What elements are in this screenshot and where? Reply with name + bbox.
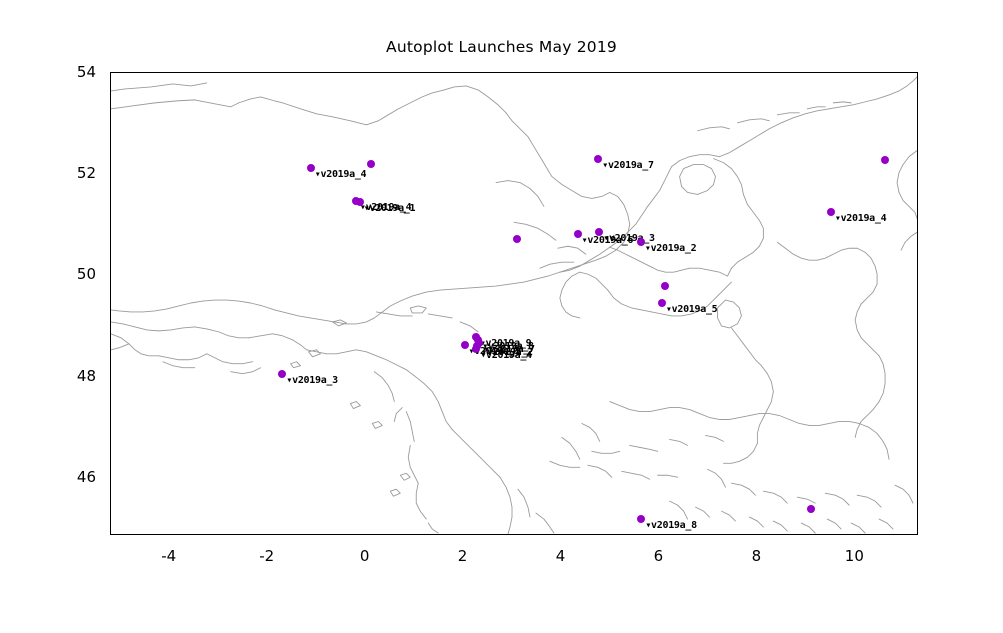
scatter-point[interactable] xyxy=(367,160,375,168)
x-tick-minor xyxy=(904,534,905,535)
x-tick-label: 0 xyxy=(335,547,395,565)
y-tick-major xyxy=(110,377,111,378)
x-tick-major xyxy=(562,534,563,535)
figure: Autoplot Launches May 2019 xyxy=(0,0,1003,633)
map-coastlines xyxy=(111,73,917,534)
scatter-point[interactable] xyxy=(658,299,666,307)
y-tick-major xyxy=(110,275,111,276)
scatter-point[interactable] xyxy=(278,370,286,378)
x-tick-label: 8 xyxy=(726,547,786,565)
scatter-point[interactable] xyxy=(574,230,582,238)
point-annotation: ▾v2019a_7 xyxy=(602,160,654,171)
x-tick-major xyxy=(464,534,465,535)
x-tick-minor xyxy=(219,534,220,535)
y-tick-minor xyxy=(110,326,111,327)
x-tick-minor xyxy=(708,534,709,535)
scatter-point[interactable] xyxy=(461,341,469,349)
point-annotation: ▾v2019a_1 xyxy=(364,203,416,214)
y-tick-label: 50 xyxy=(56,265,96,283)
x-tick-major xyxy=(757,534,758,535)
point-annotation: ▾v2019a_4 xyxy=(315,169,367,180)
scatter-point[interactable] xyxy=(595,228,603,236)
scatter-point[interactable] xyxy=(637,515,645,523)
x-tick-label: 2 xyxy=(433,547,493,565)
x-tick-minor xyxy=(121,534,122,535)
y-tick-label: 54 xyxy=(56,63,96,81)
x-tick-minor xyxy=(317,534,318,535)
scatter-point[interactable] xyxy=(513,235,521,243)
scatter-point[interactable] xyxy=(307,164,315,172)
plot-axes[interactable]: ▾v2019a_4▾v2019a_4▾v2019a_1▾v2019a_7▾v20… xyxy=(110,72,918,535)
x-tick-minor xyxy=(610,534,611,535)
scatter-point[interactable] xyxy=(661,282,669,290)
scatter-point[interactable] xyxy=(827,208,835,216)
x-tick-label: -2 xyxy=(237,547,297,565)
y-tick-label: 52 xyxy=(56,164,96,182)
scatter-point[interactable] xyxy=(637,238,645,246)
scatter-point[interactable] xyxy=(356,198,364,206)
x-tick-major xyxy=(659,534,660,535)
x-tick-major xyxy=(366,534,367,535)
x-tick-major xyxy=(268,534,269,535)
y-tick-major xyxy=(110,73,111,74)
point-annotation: ▾v2019a_8 xyxy=(645,520,697,531)
y-tick-minor xyxy=(110,124,111,125)
x-tick-label: 10 xyxy=(824,547,884,565)
x-tick-label: 6 xyxy=(628,547,688,565)
y-tick-major xyxy=(110,478,111,479)
scatter-point[interactable] xyxy=(472,345,480,353)
page-title: Autoplot Launches May 2019 xyxy=(0,38,1003,56)
point-annotation: ▾v2019a_4 xyxy=(835,213,887,224)
point-annotation: ▾v2019a_3 xyxy=(286,375,338,386)
x-tick-major xyxy=(855,534,856,535)
y-tick-minor xyxy=(110,427,111,428)
x-tick-minor xyxy=(513,534,514,535)
y-tick-major xyxy=(110,174,111,175)
x-tick-label: 4 xyxy=(531,547,591,565)
scatter-point[interactable] xyxy=(881,156,889,164)
point-annotation: ▾v2019a_5 xyxy=(666,304,718,315)
point-annotation: ▾v2019a_2 xyxy=(645,243,697,254)
point-annotation: ▾v2019a_4 xyxy=(480,350,532,361)
x-tick-minor xyxy=(415,534,416,535)
y-tick-minor xyxy=(110,225,111,226)
x-tick-label: -4 xyxy=(139,547,199,565)
scatter-point[interactable] xyxy=(594,155,602,163)
scatter-point[interactable] xyxy=(807,505,815,513)
y-tick-label: 48 xyxy=(56,367,96,385)
y-tick-label: 46 xyxy=(56,468,96,486)
y-tick-minor xyxy=(110,528,111,529)
x-tick-major xyxy=(170,534,171,535)
x-tick-minor xyxy=(806,534,807,535)
